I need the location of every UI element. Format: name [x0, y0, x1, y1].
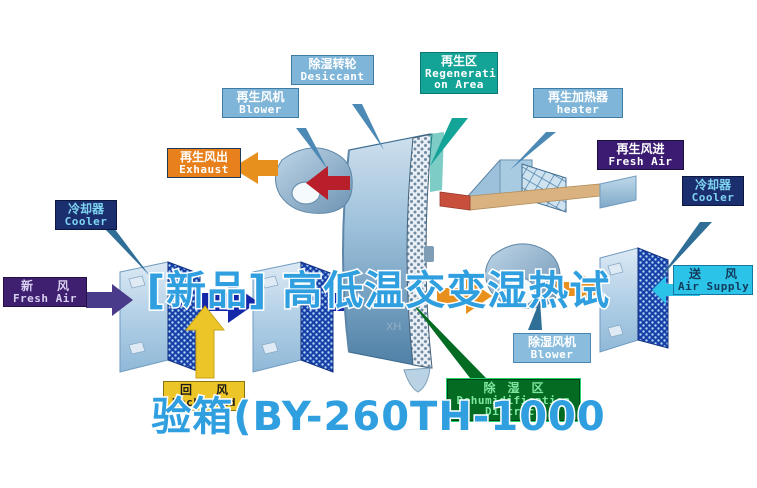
- label-regen-fresh-air: 再生风进 Fresh Air: [597, 140, 684, 170]
- to-supply-arrow: [556, 273, 603, 305]
- label-regeneration-area: 再生区 Regenerati on Area: [420, 52, 498, 94]
- label-dehumidification-blower-en: Blower: [518, 349, 586, 361]
- desiccant-rotor: XH: [343, 134, 434, 392]
- label-regeneration-heater: 再生加热器 heater: [533, 88, 623, 118]
- label-back-wind-en: Back wind: [168, 397, 240, 409]
- dehumidifier-schematic: XH: [0, 0, 757, 488]
- label-air-supply-cn: 送 风: [678, 268, 748, 281]
- label-regen-fresh-air-en: Fresh Air: [602, 156, 679, 168]
- label-regeneration-area-en2: on Area: [425, 79, 493, 91]
- label-regeneration-area-cn: 再生区: [425, 55, 493, 68]
- label-cooler-right-cn: 冷却器: [687, 179, 739, 192]
- label-dehumidification-district-cn: 除 湿 区: [452, 382, 575, 395]
- cooler-coil-1: [120, 262, 200, 372]
- label-exhaust: 再生风出 Exhaust: [167, 148, 241, 178]
- label-fresh-air-inlet: 新 风 Fresh Air: [3, 277, 87, 307]
- label-air-supply-en: Air Supply: [678, 281, 748, 293]
- label-dehumidification-district: 除 湿 区 Dehumidification District: [447, 379, 580, 421]
- label-cooler-right-en: Cooler: [687, 192, 739, 204]
- label-desiccant-wheel: 除湿转轮 Desiccant: [291, 55, 374, 85]
- label-regeneration-blower-cn: 再生风机: [227, 91, 294, 104]
- label-cooler-left-en: Cooler: [60, 216, 112, 228]
- label-dehumidification-blower-cn: 除湿风机: [518, 336, 586, 349]
- label-desiccant-wheel-en: Desiccant: [296, 71, 369, 83]
- label-dehumidification-blower: 除湿风机 Blower: [513, 333, 591, 363]
- regen-fresh-air-duct: [600, 176, 636, 208]
- label-exhaust-en: Exhaust: [172, 164, 236, 176]
- label-dehumidification-district-en2: District: [452, 406, 575, 418]
- svg-text:XH: XH: [386, 321, 401, 333]
- label-back-wind-cn: 回 风: [168, 384, 240, 397]
- post-wheel-arrow: [437, 278, 492, 314]
- label-regeneration-heater-en: heater: [538, 104, 618, 116]
- label-exhaust-cn: 再生风出: [172, 151, 236, 164]
- cooler-coil-2: [253, 262, 333, 372]
- label-air-supply: 送 风 Air Supply: [673, 265, 753, 295]
- label-cooler-left-cn: 冷却器: [60, 203, 112, 216]
- label-cooler-right: 冷却器 Cooler: [682, 176, 744, 206]
- label-fresh-air-inlet-en: Fresh Air: [8, 293, 82, 305]
- label-back-wind: 回 风 Back wind: [163, 381, 245, 411]
- dehumidification-fan: [485, 244, 560, 308]
- supply-cooling-coil: [600, 248, 668, 352]
- label-regeneration-heater-cn: 再生加热器: [538, 91, 618, 104]
- label-regen-fresh-air-cn: 再生风进: [602, 143, 679, 156]
- label-fresh-air-inlet-cn: 新 风: [8, 280, 82, 293]
- label-cooler-left: 冷却器 Cooler: [55, 200, 117, 230]
- diagram-canvas: XH: [0, 0, 757, 488]
- label-regeneration-blower-en: Blower: [227, 104, 294, 116]
- label-regeneration-blower: 再生风机 Blower: [222, 88, 299, 118]
- label-desiccant-wheel-cn: 除湿转轮: [296, 58, 369, 71]
